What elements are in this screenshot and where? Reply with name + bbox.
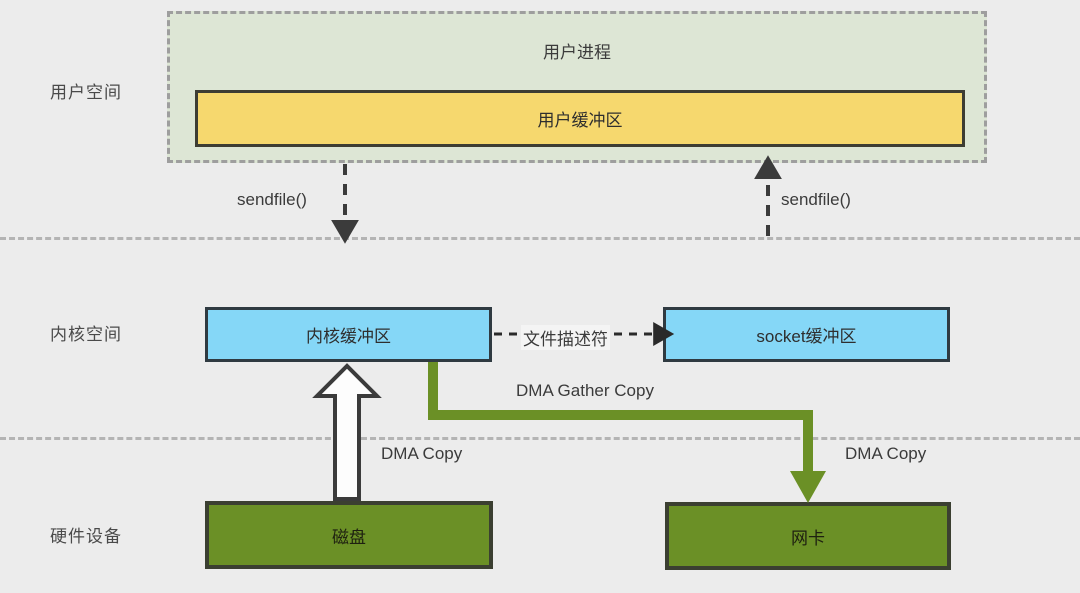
diagram-canvas: 用户空间 内核空间 硬件设备 用户进程 用户缓冲区 内核缓冲区 socket缓冲… (0, 0, 1080, 593)
user-buffer-box: 用户缓冲区 (195, 90, 965, 147)
zone-label-user-space: 用户空间 (50, 78, 122, 103)
annotation-sendfile-up: sendfile() (781, 190, 851, 210)
user-process-container: 用户进程 用户缓冲区 (167, 11, 987, 163)
annotation-dma-gather-copy: DMA Gather Copy (516, 381, 654, 401)
annotation-file-descriptor: 文件描述符 (521, 325, 610, 350)
zone-label-kernel-space: 内核空间 (50, 320, 122, 345)
annotation-sendfile-down: sendfile() (237, 190, 307, 210)
kernel-buffer-box: 内核缓冲区 (205, 307, 492, 362)
dma-copy-hollow-arrow (317, 366, 377, 499)
user-process-title: 用户进程 (170, 38, 984, 63)
disk-box: 磁盘 (205, 501, 493, 569)
nic-box: 网卡 (665, 502, 951, 570)
separator-user-kernel (0, 237, 1080, 240)
separator-kernel-hardware (0, 437, 1080, 440)
annotation-dma-copy-right: DMA Copy (845, 444, 926, 464)
annotation-dma-copy-left: DMA Copy (381, 444, 462, 464)
zone-label-hardware: 硬件设备 (50, 522, 122, 547)
socket-buffer-box: socket缓冲区 (663, 307, 950, 362)
